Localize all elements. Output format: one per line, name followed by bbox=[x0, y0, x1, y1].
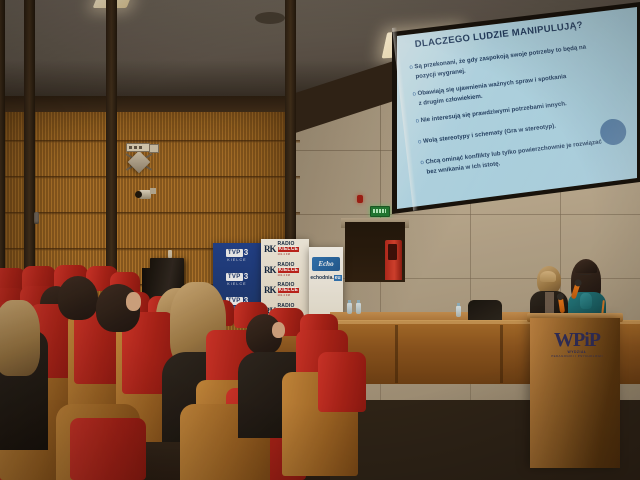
wall-seam bbox=[0, 140, 300, 143]
speaker-grille-panel bbox=[126, 143, 150, 152]
wall-seam bbox=[0, 212, 300, 215]
wall-fixture bbox=[34, 212, 39, 224]
desk-panel-seam bbox=[500, 325, 503, 383]
audience-face bbox=[272, 322, 285, 338]
rk-monogram: RK bbox=[264, 266, 276, 275]
wall-divider bbox=[0, 0, 5, 300]
tvp-wordmark: TVP bbox=[226, 273, 243, 281]
glasses-icon bbox=[578, 274, 592, 278]
audience-face bbox=[126, 292, 141, 311]
echo-logo-icon: Echo bbox=[312, 257, 340, 271]
echo-wordmark: Echo bbox=[318, 260, 333, 268]
desk-panel-seam bbox=[395, 325, 398, 383]
podium-faculty-line2: PEDAGOGIKI I PSYCHOLOGII bbox=[548, 354, 606, 358]
water-bottle bbox=[456, 306, 461, 317]
presenter-fringe bbox=[540, 271, 556, 282]
speaker-side-tab bbox=[149, 144, 159, 153]
tvp-city: KIELCE bbox=[227, 258, 246, 262]
echo-website: echodnia.eu bbox=[310, 275, 342, 281]
camera-mount bbox=[150, 188, 156, 194]
seat-cushion bbox=[318, 352, 366, 412]
audience-member-blonde bbox=[0, 300, 40, 376]
wall-sensor bbox=[168, 250, 172, 258]
water-bottle bbox=[356, 303, 361, 314]
podium-logo: WPiP WYDZIAŁ PEDAGOGIKI I PSYCHOLOGII bbox=[548, 330, 606, 358]
rk-monogram: RK bbox=[264, 286, 276, 295]
radio-logo-block: RK RADIO KIELCE 101.4 FM bbox=[261, 280, 309, 301]
exit-sign-icon bbox=[370, 206, 390, 217]
radio-frequency: 101.4 FM bbox=[278, 252, 300, 257]
tvp-logo-block: TVP 3 KIELCE bbox=[213, 267, 261, 291]
audience-member bbox=[58, 276, 98, 320]
presenter-fringe bbox=[575, 261, 597, 273]
seat-cushion bbox=[70, 418, 146, 480]
ceiling-vent bbox=[255, 12, 285, 24]
radio-logo-block: RK RADIO KIELCE 101.4 FM bbox=[261, 260, 309, 281]
tvp-city: KIELCE bbox=[227, 282, 246, 286]
radio-frequency: 101.4 FM bbox=[278, 293, 300, 298]
lecture-hall-photo: DLACZEGO LUDZIE MANIPULUJĄ? o Są przekon… bbox=[0, 0, 640, 480]
radio-logo-block: RK RADIO KIELCE 101.4 FM bbox=[261, 239, 309, 260]
fire-alarm-icon bbox=[357, 195, 363, 203]
wall-top-trim bbox=[0, 96, 294, 112]
echo-url-tld: eu bbox=[334, 275, 342, 281]
tvp-channel-number: 3 bbox=[244, 273, 248, 281]
wall-divider bbox=[106, 0, 117, 300]
water-bottle bbox=[347, 303, 352, 314]
tvp-wordmark: TVP bbox=[226, 249, 243, 257]
wall-divider bbox=[24, 0, 35, 300]
tvp-channel-number: 3 bbox=[244, 249, 248, 257]
screen-glare bbox=[385, 2, 640, 214]
banner-echo-dnia: Echo echodnia.eu bbox=[309, 247, 343, 317]
echo-url-main: echodnia. bbox=[310, 275, 333, 281]
wall-seam bbox=[0, 176, 300, 179]
rk-monogram: RK bbox=[264, 245, 276, 254]
radio-frequency: 101.4 FM bbox=[278, 273, 300, 278]
presenter-scarf bbox=[580, 293, 592, 309]
fire-extinguisher-cabinet-icon bbox=[385, 240, 402, 280]
podium-monogram: WPiP bbox=[548, 330, 606, 350]
tvp-logo-block: TVP 3 KIELCE bbox=[213, 243, 261, 267]
